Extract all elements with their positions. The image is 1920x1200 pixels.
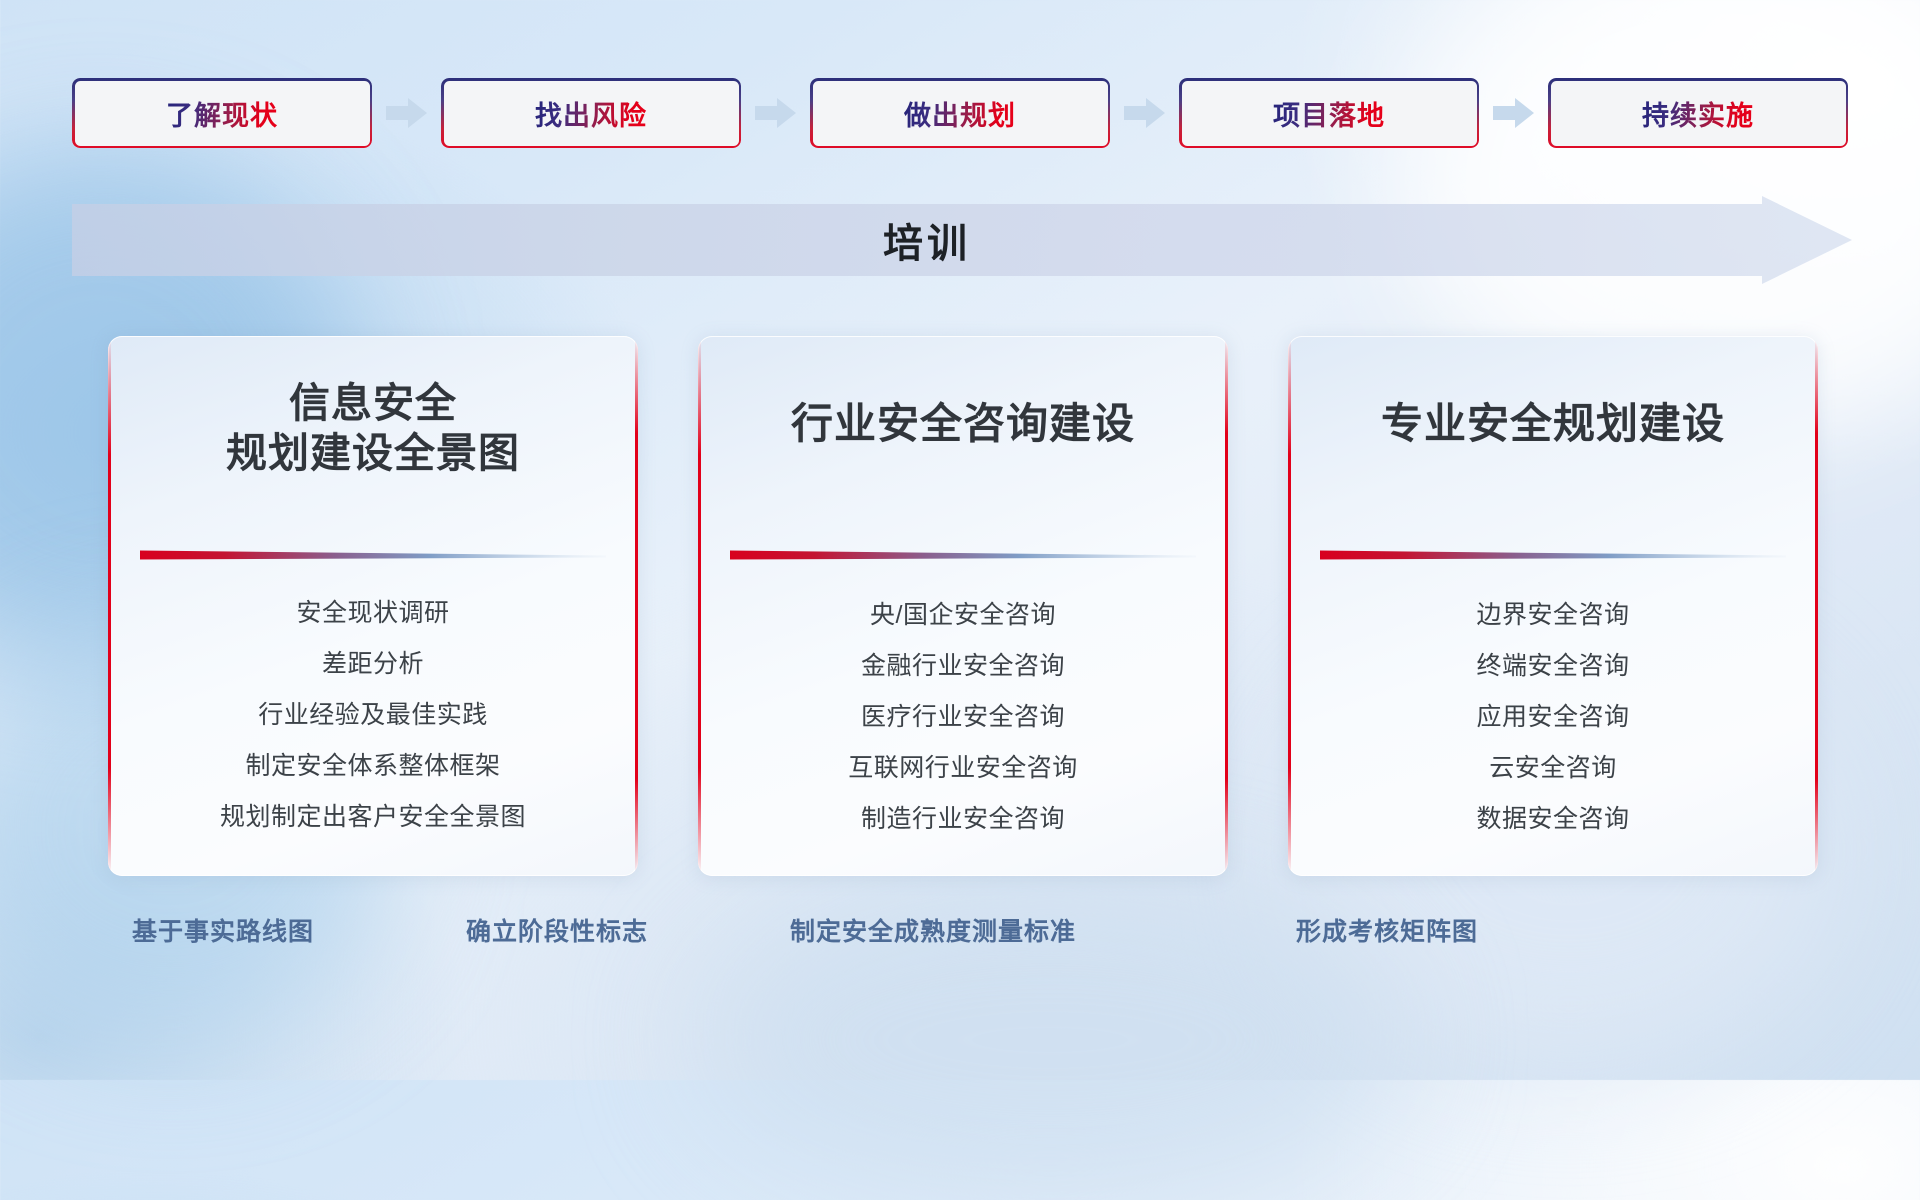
caption-maturity: 制定安全成熟度测量标准 [790, 912, 1076, 948]
card-title: 行业安全咨询建设 [698, 398, 1228, 449]
arrow-right-icon [1493, 96, 1535, 130]
caption-milestones: 确立阶段性标志 [466, 912, 648, 948]
step-box-1[interactable]: 了解现状 [72, 78, 372, 148]
list-item: 制造行业安全咨询 [861, 794, 1065, 845]
card-professional-security-planning[interactable]: 专业安全规划建设 边界安全咨询 终端安全 [1288, 336, 1818, 876]
card-title-line1: 行业安全咨询建设 [791, 400, 1135, 447]
step-box-5[interactable]: 持续实施 [1548, 78, 1848, 148]
list-item: 互联网行业安全咨询 [848, 743, 1078, 794]
card-title-line2: 规划建设全景图 [134, 428, 612, 478]
card-item-list: 边界安全咨询 终端安全咨询 应用安全咨询 云安全咨询 数据安全咨询 [1288, 590, 1818, 845]
list-item: 医疗行业安全咨询 [861, 692, 1065, 743]
card-item-list: 央/国企安全咨询 金融行业安全咨询 医疗行业安全咨询 互联网行业安全咨询 制造行… [698, 590, 1228, 845]
caption-matrix: 形成考核矩阵图 [1296, 912, 1478, 948]
list-item: 制定安全体系整体框架 [245, 741, 500, 792]
card-item-list: 安全现状调研 差距分析 行业经验及最佳实践 制定安全体系整体框架 规划制定出客户… [108, 588, 638, 843]
arrow-right-icon [755, 96, 797, 130]
gradient-wedge-divider [1320, 548, 1786, 562]
step-label: 项目落地 [1273, 94, 1385, 133]
step-box-2[interactable]: 找出风险 [441, 78, 741, 148]
step-label: 持续实施 [1642, 94, 1754, 133]
step-label: 找出风险 [535, 94, 647, 133]
step-label: 了解现状 [166, 94, 278, 133]
card-title: 专业安全规划建设 [1288, 398, 1818, 449]
band-label: 培训 [72, 196, 1852, 284]
list-item: 央/国企安全咨询 [870, 590, 1056, 641]
list-item: 行业经验及最佳实践 [258, 690, 488, 741]
list-item: 应用安全咨询 [1476, 692, 1629, 743]
card-title: 信息安全 规划建设全景图 [108, 378, 638, 478]
step-box-4[interactable]: 项目落地 [1179, 78, 1479, 148]
arrow-right-icon [386, 96, 428, 130]
caption-row: 基于事实路线图 确立阶段性标志 制定安全成熟度测量标准 形成考核矩阵图 [0, 912, 1920, 960]
list-item: 差距分析 [322, 639, 424, 690]
step-label: 做出规划 [904, 94, 1016, 133]
training-band: 培训 [72, 196, 1852, 284]
card-information-security-blueprint[interactable]: 信息安全 规划建设全景图 安全现状调研 差 [108, 336, 638, 876]
card-title-line1: 信息安全 [289, 380, 457, 426]
list-item: 数据安全咨询 [1476, 794, 1629, 845]
list-item: 边界安全咨询 [1476, 590, 1629, 641]
caption-roadmap: 基于事实路线图 [132, 912, 314, 948]
list-item: 安全现状调研 [296, 588, 449, 639]
gradient-wedge-divider [730, 548, 1196, 562]
card-industry-security-consulting[interactable]: 行业安全咨询建设 央/国企安全咨询 金融 [698, 336, 1228, 876]
list-item: 规划制定出客户安全全景图 [220, 792, 526, 843]
list-item: 云安全咨询 [1489, 743, 1617, 794]
process-step-row: 了解现状 找出风险 做出规划 项目落地 持续实施 [72, 78, 1848, 148]
step-box-3[interactable]: 做出规划 [810, 78, 1110, 148]
list-item: 终端安全咨询 [1476, 641, 1629, 692]
arrow-right-icon [1124, 96, 1166, 130]
card-row: 信息安全 规划建设全景图 安全现状调研 差 [108, 336, 1818, 876]
card-title-line1: 专业安全规划建设 [1381, 400, 1725, 447]
list-item: 金融行业安全咨询 [861, 641, 1065, 692]
gradient-wedge-divider [140, 548, 606, 562]
